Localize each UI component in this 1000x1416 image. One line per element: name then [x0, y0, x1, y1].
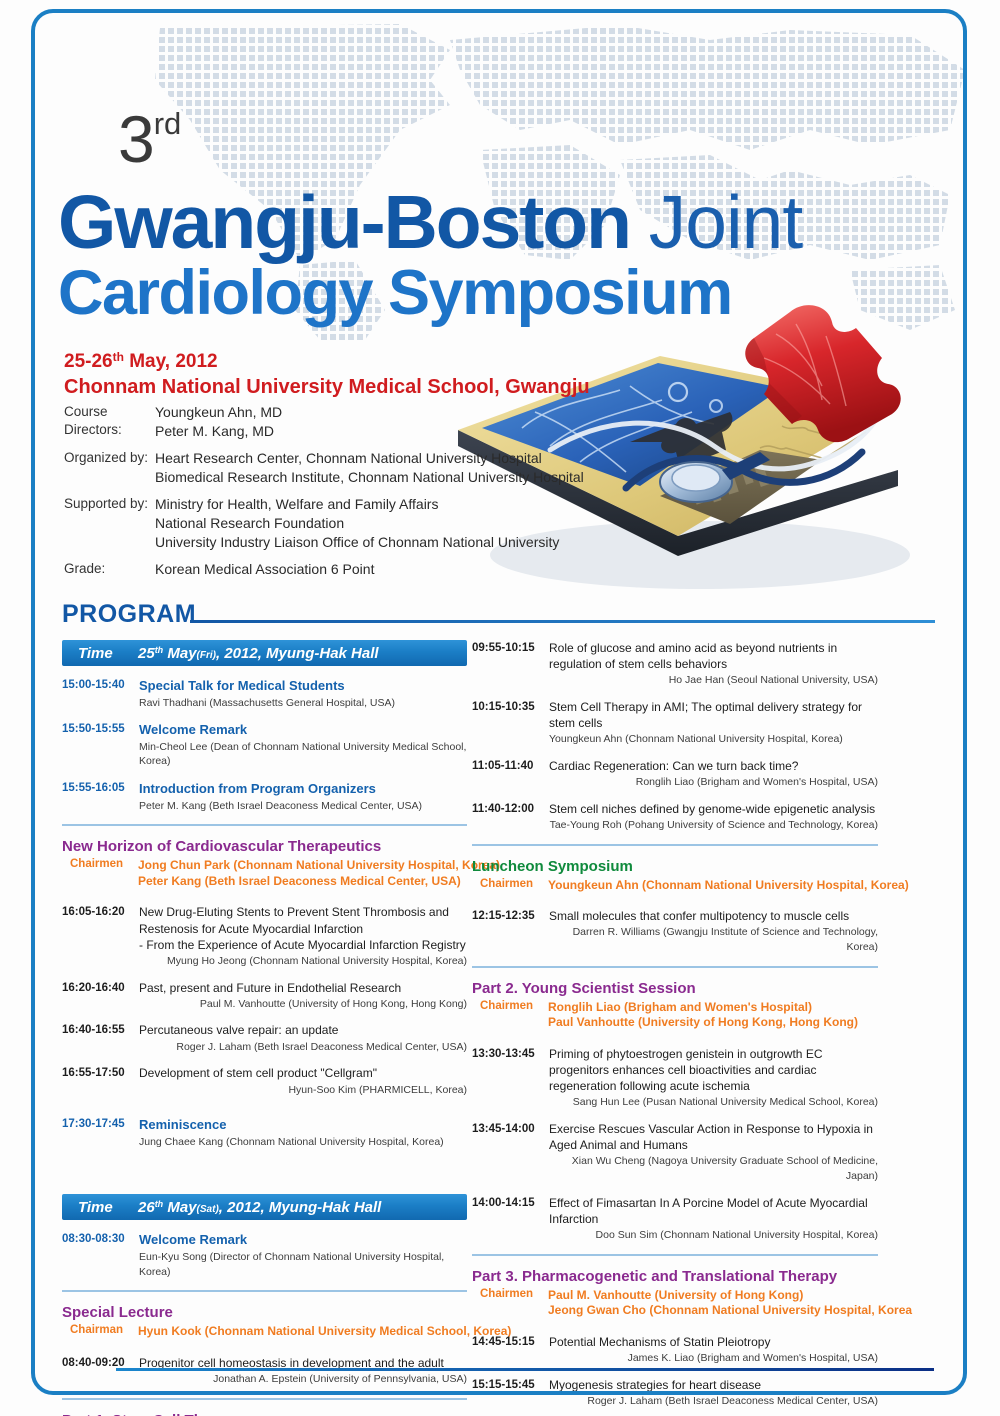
session-title: progenitors enhances cell bioactivities … [549, 1062, 878, 1078]
session-speaker: Doo Sun Sim (Chonnam National University… [549, 1228, 878, 1243]
section-part3: Part 3. Pharmacogenetic and Translationa… [472, 1268, 878, 1319]
session-title: Development of stem cell product "Cellgr… [139, 1065, 467, 1081]
session-title: Stem Cell Therapy in AMI; The optimal de… [549, 699, 878, 731]
session-speaker: Hyun-Soo Kim (PHARMICELL, Korea) [139, 1083, 467, 1098]
session-time: 11:40-12:00 [472, 801, 549, 833]
meta-value: Biomedical Research Institute, Chonnam N… [155, 468, 584, 487]
session-title: Role of glucose and amino acid as beyond… [549, 640, 878, 656]
day1-time-bar: Time 25th May(Fri), 2012, Myung-Hak Hall [62, 640, 467, 666]
meta-value: Youngkeun Ahn, MD [155, 403, 282, 422]
chairman-name: Ronglih Liao (Brigham and Women's Hospit… [548, 1000, 858, 1016]
session-row: 15:15-15:45 Myogenesis strategies for he… [472, 1377, 878, 1409]
meta-values: Korean Medical Association 6 Point [155, 560, 374, 579]
program-column-right: 09:55-10:15 Role of glucose and amino ac… [472, 640, 878, 1416]
chairmen-block: Chairman Hyun Kook (Chonnam National Uni… [62, 1324, 467, 1340]
session-speaker: Myung Ho Jeong (Chonnam National Univers… [139, 954, 467, 969]
session-row: 16:40-16:55 Percutaneous valve repair: a… [62, 1022, 467, 1054]
session-time: 16:20-16:40 [62, 980, 139, 1012]
session-speaker: Jung Chaee Kang (Chonnam National Univer… [139, 1135, 467, 1150]
poster-title-line2: Cardiology Symposium [58, 262, 732, 325]
section-divider [472, 966, 878, 968]
session-title: Cardiac Regeneration: Can we turn back t… [549, 758, 878, 774]
program-heading: PROGRAM [62, 600, 196, 629]
session-title: New Drug-Eluting Stents to Prevent Stent… [139, 904, 467, 920]
chairmen-block: Chairmen Ronglih Liao (Brigham and Women… [472, 1000, 878, 1031]
section-title: Special Lecture [62, 1304, 467, 1323]
session-speaker: Ho Jae Han (Seoul National University, U… [549, 673, 878, 688]
chairman-name: Hyun Kook (Chonnam National University M… [138, 1324, 511, 1340]
session-speaker: Darren R. Williams (Gwangju Institute of… [549, 925, 878, 954]
chairmen-names: Youngkeun Ahn (Chonnam National Universi… [548, 878, 909, 894]
section-part2: Part 2. Young Scientist Session Chairmen… [472, 980, 878, 1031]
meta-label: Organized by: [64, 449, 155, 486]
meta-value: Heart Research Center, Chonnam National … [155, 449, 584, 468]
session-row: 09:55-10:15 Role of glucose and amino ac… [472, 640, 878, 688]
session-row: 11:05-11:40 Cardiac Regeneration: Can we… [472, 758, 878, 790]
session-title: Restenosis for Acute Myocardial Infarcti… [139, 921, 467, 937]
session-time: 15:00-15:40 [62, 677, 139, 710]
session-row: 16:05-16:20 New Drug-Eluting Stents to P… [62, 904, 467, 968]
time-label: Time [62, 645, 138, 662]
session-title: - From the Experience of Acute Myocardia… [139, 937, 467, 953]
session-time: 08:30-08:30 [62, 1231, 139, 1279]
session-title: Effect of Fimasartan In A Porcine Model … [549, 1195, 878, 1227]
chairmen-label: Chairman [62, 1324, 138, 1340]
session-row: 14:00-14:15 Effect of Fimasartan In A Po… [472, 1195, 878, 1243]
chairmen-label: Chairmen [472, 878, 548, 894]
chairman-name: Jeong Gwan Cho (Chonnam National Univers… [548, 1303, 912, 1319]
session-title: Potential Mechanisms of Statin Pleiotrop… [549, 1334, 878, 1350]
session-time: 16:40-16:55 [62, 1022, 139, 1054]
session-row: 10:15-10:35 Stem Cell Therapy in AMI; Th… [472, 699, 878, 747]
meta-value: National Research Foundation [155, 514, 559, 533]
title-joint: Joint [649, 180, 802, 264]
section-title: Luncheon Symposium [472, 858, 878, 877]
session-title: Welcome Remark [139, 721, 467, 739]
session-row: 16:20-16:40 Past, present and Future in … [62, 980, 467, 1012]
session-speaker: Roger J. Laham (Beth Israel Deaconess Me… [549, 1394, 878, 1409]
day2-time-bar: Time 26th May(Sat), 2012, Myung-Hak Hall [62, 1194, 467, 1220]
poster-root: 3rd Gwangju-Boston Joint Cardiology Symp… [0, 0, 1000, 1416]
section-divider [62, 824, 467, 826]
chairman-name: Jong Chun Park (Chonnam National Univers… [138, 858, 500, 874]
chairmen-block: Chairmen Jong Chun Park (Chonnam Nationa… [62, 858, 467, 889]
ordinal-number: 3 [118, 102, 154, 176]
section-title: Part 1. Stem Cell Therapy [62, 1412, 467, 1416]
session-speaker: Peter M. Kang (Beth Israel Deaconess Med… [139, 799, 467, 814]
session-time: 13:30-13:45 [472, 1046, 549, 1110]
session-speaker: Ravi Thadhani (Massachusetts General Hos… [139, 696, 467, 711]
chairmen-label: Chairmen [62, 858, 138, 889]
section-title: Part 2. Young Scientist Session [472, 980, 878, 999]
meta-value: University Industry Liaison Office of Ch… [155, 533, 559, 552]
session-time: 14:45-15:15 [472, 1334, 549, 1366]
section-divider [62, 1398, 467, 1400]
meta-row: Supported by: Ministry for Health, Welfa… [64, 495, 624, 551]
meta-value: Ministry for Health, Welfare and Family … [155, 495, 559, 514]
session-speaker: Min-Cheol Lee (Dean of Chonnam National … [139, 740, 467, 769]
chairmen-label: Chairmen [472, 1288, 548, 1319]
date-rest: May, 2012 [124, 351, 218, 372]
session-row: 15:55-16:05 Introduction from Program Or… [62, 780, 467, 813]
session-title: Priming of phytoestrogen genistein in ou… [549, 1046, 878, 1062]
chairmen-block: Chairmen Youngkeun Ahn (Chonnam National… [472, 878, 878, 894]
session-title: Small molecules that confer multipotency… [549, 908, 878, 924]
meta-values: Heart Research Center, Chonnam National … [155, 449, 584, 486]
meta-values: Ministry for Health, Welfare and Family … [155, 495, 559, 551]
session-title: Past, present and Future in Endothelial … [139, 980, 467, 996]
meta-label: Grade: [64, 560, 155, 579]
session-row: 12:15-12:35 Small molecules that confer … [472, 908, 878, 955]
session-speaker: Jonathan A. Epstein (University of Penns… [139, 1372, 467, 1387]
session-speaker: Paul M. Vanhoutte (University of Hong Ko… [139, 997, 467, 1012]
section-divider [472, 844, 878, 846]
session-title: Aged Animal and Humans [549, 1137, 878, 1153]
meta-row: Course Directors: Youngkeun Ahn, MD Pete… [64, 403, 624, 440]
session-row: 14:45-15:15 Potential Mechanisms of Stat… [472, 1334, 878, 1366]
session-time: 14:00-14:15 [472, 1195, 549, 1243]
event-venue: Chonnam National University Medical Scho… [64, 376, 590, 399]
session-time: 15:50-15:55 [62, 721, 139, 769]
day2-date-label: 26th May(Sat), 2012, Myung-Hak Hall [138, 1199, 381, 1216]
meta-value: Peter M. Kang, MD [155, 422, 282, 441]
session-speaker: James K. Liao (Brigham and Women's Hospi… [549, 1351, 878, 1366]
session-row: 17:30-17:45 Reminiscence Jung Chaee Kang… [62, 1116, 467, 1149]
session-row: 11:40-12:00 Stem cell niches defined by … [472, 801, 878, 833]
meta-value: Korean Medical Association 6 Point [155, 560, 374, 579]
session-row: 08:30-08:30 Welcome Remark Eun-Kyu Song … [62, 1231, 467, 1279]
session-title: regulation of stem cells behaviors [549, 656, 878, 672]
session-time: 15:55-16:05 [62, 780, 139, 813]
session-row: 13:30-13:45 Priming of phytoestrogen gen… [472, 1046, 878, 1110]
section-divider [472, 1254, 878, 1256]
session-title: Special Talk for Medical Students [139, 677, 467, 695]
session-time: 17:30-17:45 [62, 1116, 139, 1149]
poster-title-line1: Gwangju-Boston Joint [58, 185, 802, 260]
session-title: regeneration following acute ischemia [549, 1078, 878, 1094]
edition-ordinal: 3rd [118, 106, 181, 172]
session-title: Introduction from Program Organizers [139, 780, 467, 798]
session-time: 13:45-14:00 [472, 1121, 549, 1184]
meta-label: Course Directors: [64, 403, 155, 440]
chairmen-names: Hyun Kook (Chonnam National University M… [138, 1324, 511, 1340]
session-time: 16:55-17:50 [62, 1065, 139, 1097]
section-title: Part 3. Pharmacogenetic and Translationa… [472, 1268, 878, 1287]
session-time: 12:15-12:35 [472, 908, 549, 955]
section-part1: Part 1. Stem Cell Therapy Chairmen Hyo-S… [62, 1412, 467, 1416]
session-title: Exercise Rescues Vascular Action in Resp… [549, 1121, 878, 1137]
session-title: Stem cell niches defined by genome-wide … [549, 801, 878, 817]
session-speaker: Xian Wu Cheng (Nagoya University Graduat… [549, 1154, 878, 1183]
bottom-rule [116, 1368, 934, 1371]
session-title: Reminiscence [139, 1116, 467, 1134]
program-heading-rule [190, 620, 935, 623]
session-time: 11:05-11:40 [472, 758, 549, 790]
chairmen-names: Ronglih Liao (Brigham and Women's Hospit… [548, 1000, 858, 1031]
chairmen-names: Paul M. Vanhoutte (University of Hong Ko… [548, 1288, 912, 1319]
section-title: New Horizon of Cardiovascular Therapeuti… [62, 838, 467, 857]
session-speaker: Roger J. Laham (Beth Israel Deaconess Me… [139, 1040, 467, 1055]
section-new-horizon: New Horizon of Cardiovascular Therapeuti… [62, 838, 467, 889]
date-range: 25-26 [64, 351, 113, 372]
event-date: 25-26th May, 2012 [64, 350, 218, 374]
meta-row: Organized by: Heart Research Center, Cho… [64, 449, 624, 486]
chairman-name: Paul Vanhoutte (University of Hong Kong,… [548, 1015, 858, 1031]
session-speaker: Eun-Kyu Song (Director of Chonnam Nation… [139, 1250, 467, 1279]
date-suffix: th [113, 350, 124, 364]
session-speaker: Tae-Young Roh (Pohang University of Scie… [549, 818, 878, 833]
meta-row: Grade: Korean Medical Association 6 Poin… [64, 560, 624, 579]
session-time: 15:15-15:45 [472, 1377, 549, 1409]
meta-values: Youngkeun Ahn, MD Peter M. Kang, MD [155, 403, 282, 440]
chairmen-block: Chairmen Paul M. Vanhoutte (University o… [472, 1288, 878, 1319]
ordinal-suffix: rd [154, 106, 182, 141]
chairman-name: Peter Kang (Beth Israel Deaconess Medica… [138, 874, 500, 890]
chairmen-names: Jong Chun Park (Chonnam National Univers… [138, 858, 500, 889]
session-row: 16:55-17:50 Development of stem cell pro… [62, 1065, 467, 1097]
session-time: 09:55-10:15 [472, 640, 549, 688]
session-row: 15:00-15:40 Special Talk for Medical Stu… [62, 677, 467, 710]
time-label: Time [62, 1199, 138, 1216]
section-divider [62, 1290, 467, 1292]
session-speaker: Youngkeun Ahn (Chonnam National Universi… [549, 732, 878, 747]
section-special-lecture: Special Lecture Chairman Hyun Kook (Chon… [62, 1304, 467, 1339]
session-time: 16:05-16:20 [62, 904, 139, 968]
meta-label: Supported by: [64, 495, 155, 551]
section-luncheon: Luncheon Symposium Chairmen Youngkeun Ah… [472, 858, 878, 893]
program-column-left: Time 25th May(Fri), 2012, Myung-Hak Hall… [62, 640, 467, 1416]
session-row: 13:45-14:00 Exercise Rescues Vascular Ac… [472, 1121, 878, 1184]
session-speaker: Sang Hun Lee (Pusan National University … [549, 1095, 878, 1110]
session-title: Percutaneous valve repair: an update [139, 1022, 467, 1038]
chairman-name: Youngkeun Ahn (Chonnam National Universi… [548, 878, 909, 894]
chairman-name: Paul M. Vanhoutte (University of Hong Ko… [548, 1288, 912, 1304]
session-speaker: Ronglih Liao (Brigham and Women's Hospit… [549, 775, 878, 790]
title-main: Gwangju-Boston [58, 180, 630, 264]
event-meta: Course Directors: Youngkeun Ahn, MD Pete… [64, 403, 624, 588]
session-title: Myogenesis strategies for heart disease [549, 1377, 878, 1393]
day1-date-label: 25th May(Fri), 2012, Myung-Hak Hall [138, 645, 379, 662]
session-title: Welcome Remark [139, 1231, 467, 1249]
chairmen-label: Chairmen [472, 1000, 548, 1031]
session-row: 15:50-15:55 Welcome Remark Min-Cheol Lee… [62, 721, 467, 769]
session-time: 10:15-10:35 [472, 699, 549, 747]
